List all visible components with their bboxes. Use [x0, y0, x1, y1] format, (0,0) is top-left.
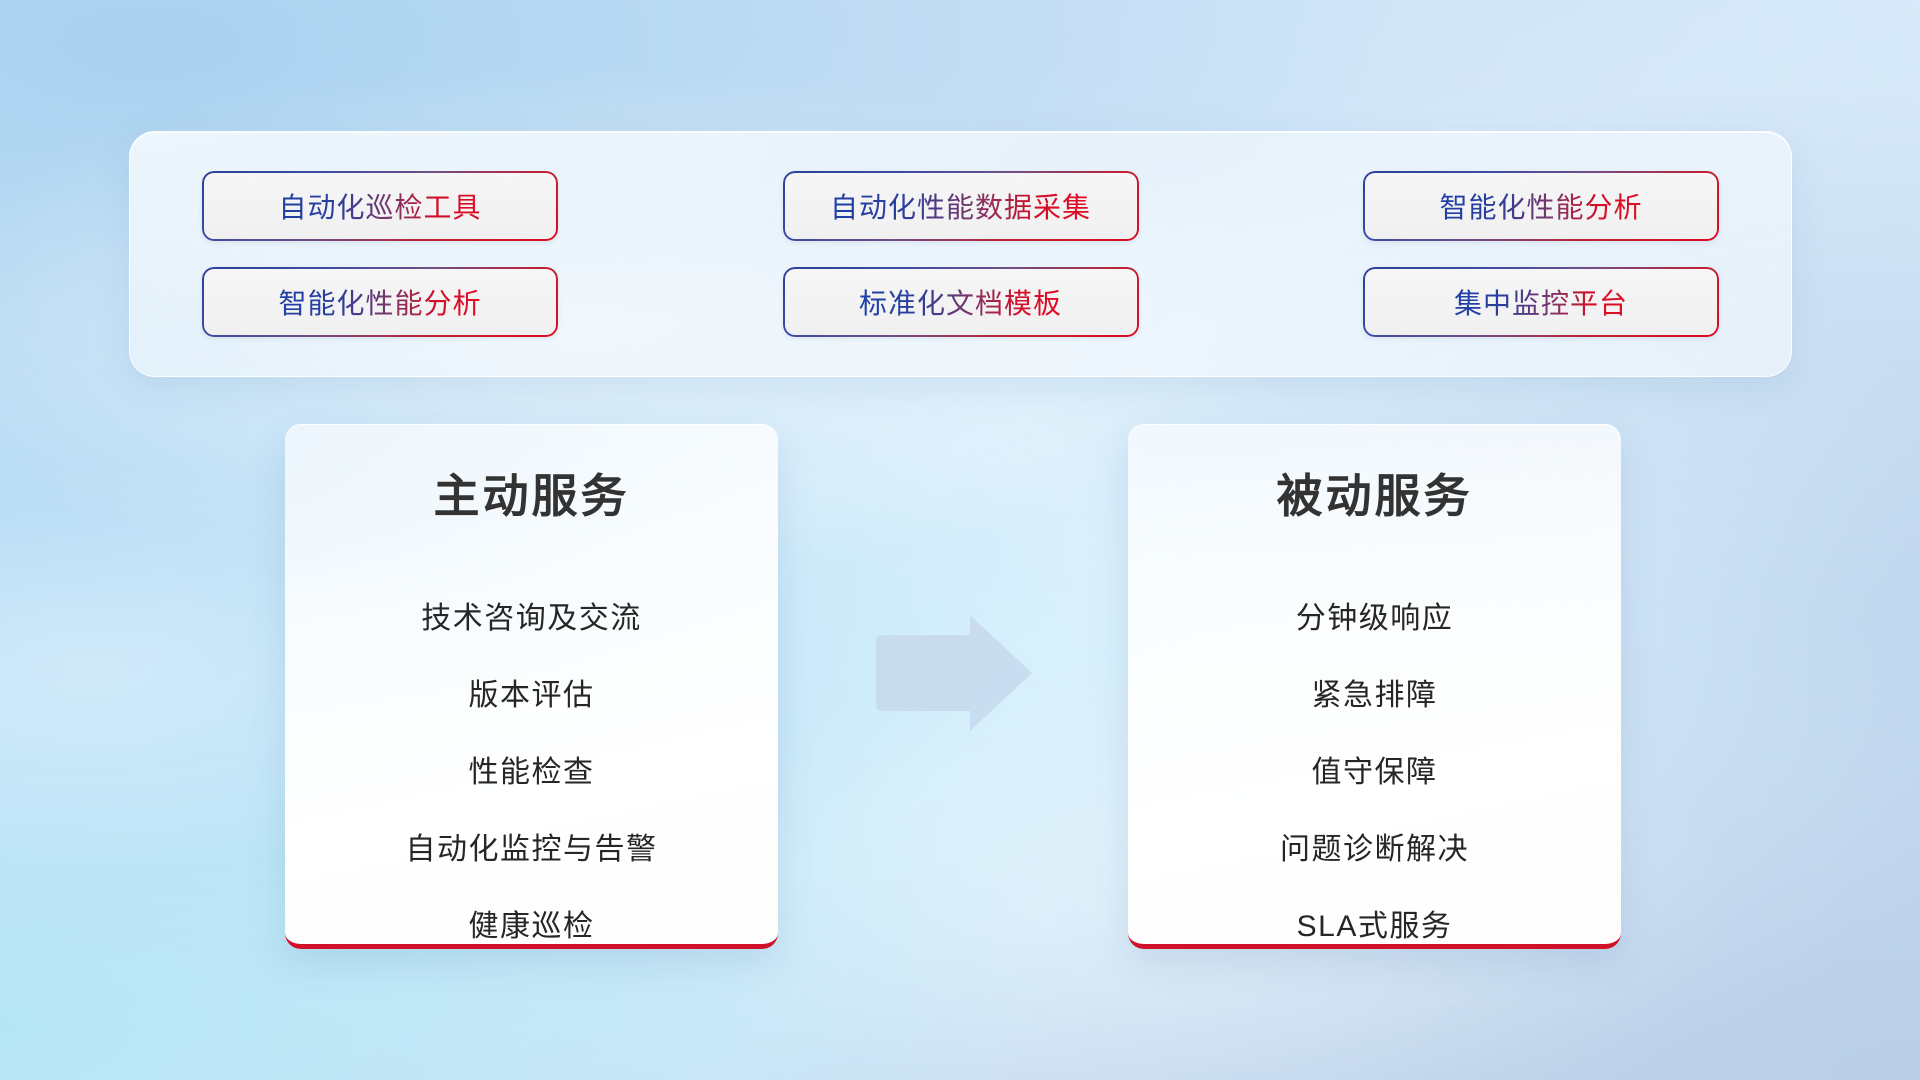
- list-item[interactable]: 性能检查: [469, 744, 595, 802]
- list-item[interactable]: 值守保障: [1312, 744, 1438, 802]
- list-item[interactable]: 分钟级响应: [1296, 590, 1454, 648]
- capability-chip-automated-inspection-tool[interactable]: 自动化巡检工具: [202, 171, 558, 241]
- list-item[interactable]: 版本评估: [469, 667, 595, 725]
- proactive-service-card: 主动服务 技术咨询及交流 版本评估 性能检查 自动化监控与告警 健康巡检: [285, 424, 778, 949]
- reactive-service-card: 被动服务 分钟级响应 紧急排障 值守保障 问题诊断解决 SLA式服务: [1128, 424, 1621, 949]
- reactive-service-title: 被动服务: [1277, 460, 1473, 526]
- capability-chip-intelligent-performance-analysis-top[interactable]: 智能化性能分析: [1363, 171, 1719, 241]
- capability-chip-label: 智能化性能分析: [1439, 186, 1642, 226]
- list-item[interactable]: 技术咨询及交流: [421, 590, 642, 648]
- list-item[interactable]: 健康巡检: [469, 898, 595, 956]
- list-item[interactable]: SLA式服务: [1297, 898, 1453, 956]
- proactive-service-list: 技术咨询及交流 版本评估 性能检查 自动化监控与告警 健康巡检: [315, 590, 748, 956]
- capability-chip-automated-performance-data-collection[interactable]: 自动化性能数据采集: [783, 171, 1139, 241]
- list-item[interactable]: 自动化监控与告警: [406, 821, 658, 879]
- right-arrow-icon: [874, 613, 1034, 733]
- capabilities-panel: 自动化巡检工具 自动化性能数据采集 智能化性能分析 智能化性能分析 标准化文档模…: [129, 131, 1792, 377]
- list-item[interactable]: 紧急排障: [1312, 667, 1438, 725]
- capability-chip-label: 集中监控平台: [1454, 282, 1628, 322]
- capability-row-1: 自动化巡检工具 自动化性能数据采集 智能化性能分析: [202, 171, 1719, 241]
- capability-chip-intelligent-performance-analysis[interactable]: 智能化性能分析: [202, 267, 558, 337]
- capability-chip-label: 智能化性能分析: [278, 282, 481, 322]
- capability-chip-centralized-monitoring-platform[interactable]: 集中监控平台: [1363, 267, 1719, 337]
- capability-row-2: 智能化性能分析 标准化文档模板 集中监控平台: [202, 267, 1719, 337]
- capability-chip-standardized-document-template[interactable]: 标准化文档模板: [783, 267, 1139, 337]
- capability-chip-label: 自动化性能数据采集: [830, 186, 1091, 226]
- capability-chip-label: 自动化巡检工具: [278, 186, 481, 226]
- reactive-service-list: 分钟级响应 紧急排障 值守保障 问题诊断解决 SLA式服务: [1158, 590, 1591, 956]
- list-item[interactable]: 问题诊断解决: [1280, 821, 1469, 879]
- proactive-service-title: 主动服务: [434, 460, 630, 526]
- capability-chip-label: 标准化文档模板: [859, 282, 1062, 322]
